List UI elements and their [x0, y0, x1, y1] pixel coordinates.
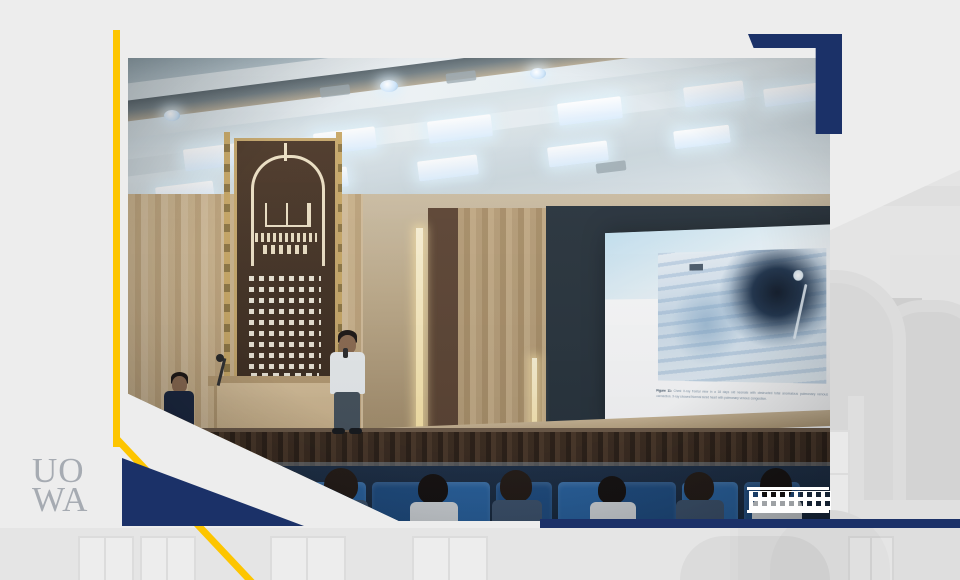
- audience-shirt: [316, 500, 368, 521]
- kufic-logo-bottom-bar: [747, 510, 829, 513]
- banner-canvas: Figure 11: Chest X-ray frontal view in a…: [0, 0, 960, 580]
- uowa-wordmark: UO WA: [32, 455, 112, 521]
- presenter-shoe: [332, 428, 345, 434]
- staff-shirt: [164, 391, 194, 431]
- audience-head: [500, 470, 532, 502]
- presenter-trousers: [334, 392, 360, 430]
- audience-shirt: [492, 500, 542, 521]
- islamic-calligraphy-panel: [234, 138, 338, 394]
- yellow-vertical-stripe: [113, 30, 120, 447]
- audience-head: [254, 472, 284, 504]
- calligraphy-book-icon: [265, 203, 311, 227]
- facade-window: [140, 536, 196, 580]
- audience-shirt: [676, 500, 724, 521]
- facade-window: [270, 536, 346, 580]
- navy-horizontal-bar: [540, 519, 960, 528]
- lower-facade-watermark: [0, 528, 960, 580]
- led-strip-light: [416, 228, 423, 438]
- photo-inner: Figure 11: Chest X-ray frontal view in a…: [128, 58, 830, 521]
- kufic-square-script: [249, 271, 321, 369]
- ceiling-vent: [596, 160, 627, 174]
- presenter: [324, 330, 370, 436]
- slide-xray-image: [658, 248, 827, 384]
- calligraphy-script-line: [255, 233, 317, 242]
- audience-head: [324, 468, 358, 502]
- ceiling-panel-light: [417, 154, 479, 181]
- audience-shirt: [410, 502, 458, 521]
- audience-head: [684, 472, 714, 502]
- ceiling-panel-light: [427, 114, 493, 144]
- xray-catheter-line: [793, 284, 808, 339]
- wordmark-line-2: WA: [32, 484, 112, 516]
- slide-figure-label: Figure 11:: [656, 389, 672, 393]
- presenter-microphone: [343, 348, 348, 358]
- facade-window: [848, 536, 894, 580]
- ceiling-panel-light: [683, 80, 745, 107]
- staff-trousers: [168, 429, 191, 465]
- projection-screen: Figure 11: Chest X-ray frontal view in a…: [605, 222, 830, 440]
- kufic-logo-glyphs: [749, 491, 831, 510]
- calligraphy-script-line: [263, 245, 307, 254]
- slide-caption-text: Chest X-ray frontal view in a 18 days ol…: [656, 389, 828, 400]
- lecture-hall-photo: Figure 11: Chest X-ray frontal view in a…: [128, 58, 830, 521]
- navy-triangle: [122, 458, 304, 526]
- presenter-shoe: [349, 428, 362, 434]
- podium-microphone-head: [216, 354, 224, 362]
- xray-bright-spot: [793, 270, 803, 281]
- audience-head: [418, 474, 448, 504]
- audience-head: [598, 476, 626, 504]
- facade-window: [78, 536, 134, 580]
- xray-marker: [690, 263, 703, 270]
- presenter-shirt: [330, 352, 365, 394]
- kufic-logo: [747, 487, 832, 513]
- ceiling-panel-light: [673, 125, 731, 150]
- ceiling-spotlight: [530, 68, 546, 79]
- facade-shrub: [680, 536, 830, 580]
- panel-gold-frame: [224, 132, 230, 394]
- ceiling-spotlight: [380, 80, 398, 92]
- ceiling-panel-light: [557, 96, 623, 126]
- staff-member: [160, 372, 198, 466]
- slide-caption: Figure 11: Chest X-ray frontal view in a…: [656, 388, 828, 404]
- ceiling-spotlight: [164, 110, 180, 121]
- facade-window: [412, 536, 488, 580]
